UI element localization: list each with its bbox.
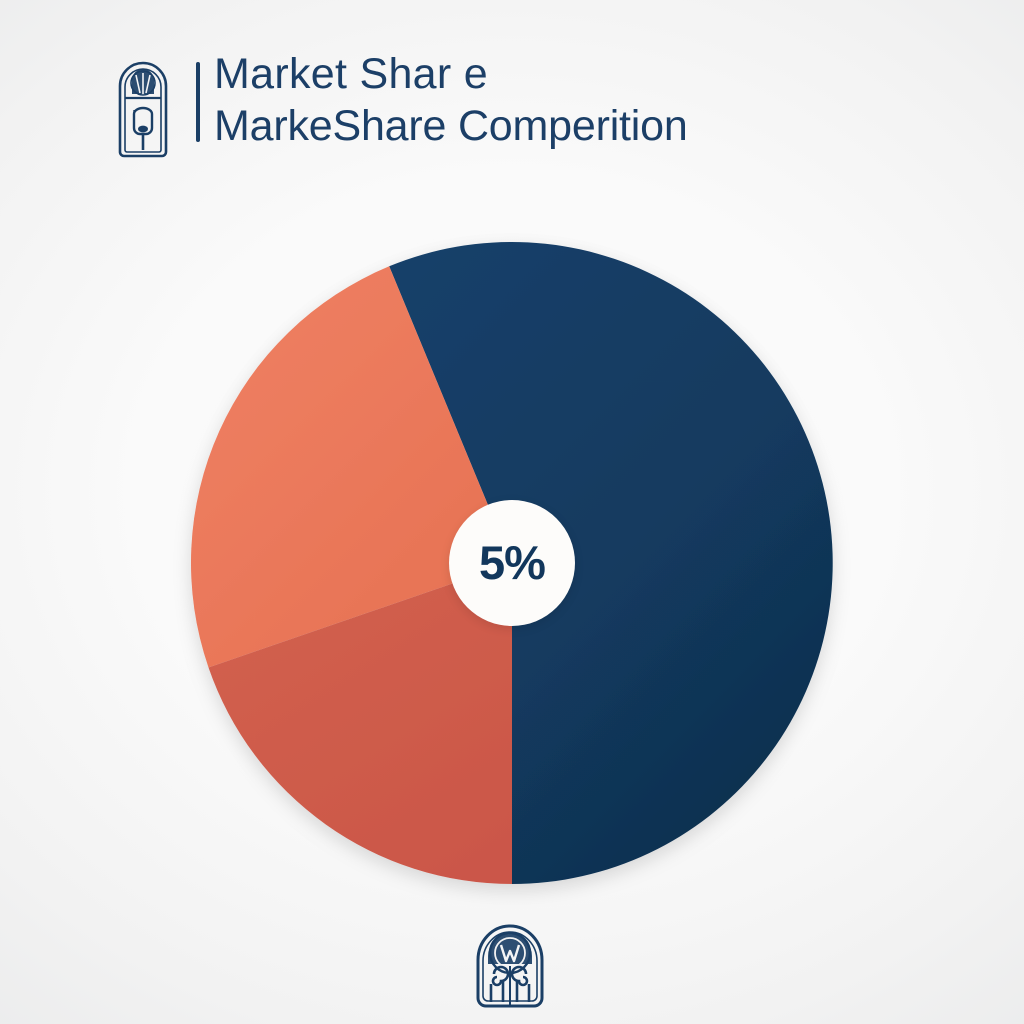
- chart-canvas: Market Shar e MarkeShare Comperition: [0, 0, 1024, 1024]
- center-percentage-label: 5%: [479, 539, 545, 586]
- badge-emblem-icon: [458, 916, 562, 1014]
- pie-chart: 5%: [0, 0, 1024, 1024]
- center-value-disc: 5%: [449, 500, 575, 626]
